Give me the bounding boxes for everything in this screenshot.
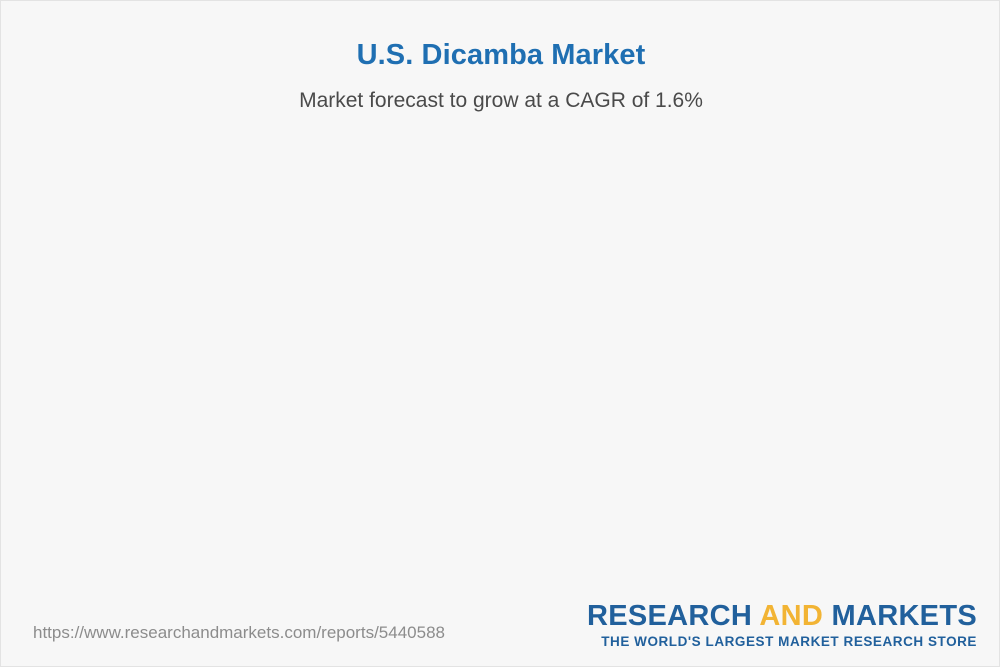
researchandmarkets-logo[interactable]: RESEARCH AND MARKETS THE WORLD'S LARGEST… <box>587 601 977 649</box>
logo-wordmark: RESEARCH AND MARKETS <box>587 601 977 631</box>
logo-tagline: THE WORLD'S LARGEST MARKET RESEARCH STOR… <box>587 634 977 649</box>
logo-word-and: AND <box>759 600 823 632</box>
logo-word-research: RESEARCH <box>587 600 752 632</box>
infographic-canvas: U.S. Dicamba Market Market forecast to g… <box>0 0 1000 667</box>
logo-word-markets: MARKETS <box>832 600 978 632</box>
chart-plot-area: USD 124.13 Million 2019 USD 141.41 Milli… <box>1 1 1000 601</box>
source-url[interactable]: https://www.researchandmarkets.com/repor… <box>33 623 445 643</box>
